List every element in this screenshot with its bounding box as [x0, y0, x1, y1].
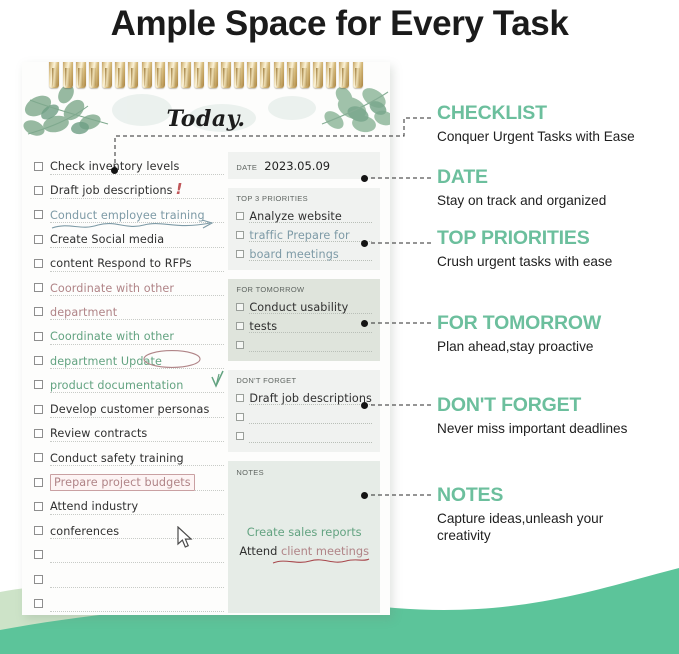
spiral-coil-icon	[287, 62, 297, 88]
task-text: Conduct safety training	[50, 452, 184, 465]
task-line: Attend industry	[50, 498, 224, 515]
task-text: traffic Prepare for	[249, 229, 349, 242]
annotation-date: DATE Stay on track and organized	[437, 166, 606, 209]
checkbox[interactable]	[236, 394, 244, 402]
spiral-coil-icon	[339, 62, 349, 88]
notes-accent-text: client meetings	[281, 544, 369, 558]
priority-item[interactable]: traffic Prepare for	[236, 225, 372, 244]
checkbox[interactable]	[236, 341, 244, 349]
for-tomorrow-title: FOR TOMORROW	[236, 285, 372, 294]
spiral-coil-icon	[128, 62, 138, 88]
annotation-subtitle: Plan ahead,stay proactive	[437, 338, 601, 355]
checklist-item[interactable]: Draft job descriptions!	[32, 178, 224, 202]
dont-forget-item[interactable]	[236, 426, 372, 445]
task-line: Coordinate with other	[50, 328, 224, 345]
checkbox[interactable]	[34, 526, 43, 535]
checklist-item[interactable]: Conduct employee training	[32, 203, 224, 227]
checkbox[interactable]	[34, 332, 43, 341]
page-root: Ample Space for Every Task	[0, 0, 679, 654]
leader-dot	[361, 492, 368, 499]
task-line: content Respond to RFPs	[50, 255, 224, 272]
task-text: product documentation	[50, 379, 183, 392]
spiral-coil-icon	[260, 62, 270, 88]
checkbox[interactable]	[34, 283, 43, 292]
task-line	[249, 428, 372, 443]
leader-dot	[361, 320, 368, 327]
top-priorities-title: TOP 3 PRIORITIES	[236, 194, 372, 203]
task-text: Coordinate with other	[50, 330, 174, 343]
spiral-coil-icon	[76, 62, 86, 88]
checklist-item[interactable]: product documentation	[32, 373, 224, 397]
wavy-underline-icon	[272, 557, 370, 566]
handwritten-check-icon	[210, 370, 226, 390]
checkbox[interactable]	[34, 550, 43, 559]
leader-dot	[361, 175, 368, 182]
date-panel[interactable]: DATE 2023.05.09	[228, 152, 380, 179]
checkbox[interactable]	[236, 212, 244, 220]
checklist-item[interactable]: Review contracts	[32, 421, 224, 445]
checklist-item[interactable]: Check inventory levels	[32, 154, 224, 178]
task-line: conferences	[50, 522, 224, 539]
task-text: conferences	[50, 525, 119, 538]
checkbox[interactable]	[34, 502, 43, 511]
spiral-coil-icon	[208, 62, 218, 88]
checkbox[interactable]	[34, 210, 43, 219]
task-text: Create Social media	[50, 233, 164, 246]
notepad-body: Check inventory levelsDraft job descript…	[22, 138, 390, 615]
notes-text: Create sales reports	[247, 525, 362, 539]
checklist-item[interactable]: content Respond to RFPs	[32, 251, 224, 275]
checkbox[interactable]	[34, 380, 43, 389]
task-line: product documentation	[50, 376, 224, 393]
annotation-checklist: CHECKLIST Conquer Urgent Tasks with Ease	[437, 102, 635, 145]
exclamation-mark-icon: !	[176, 180, 183, 198]
task-text: Conduct usability	[249, 301, 348, 314]
checklist-item[interactable]: Prepare project budgets	[32, 470, 224, 494]
spiral-coil-icon	[63, 62, 73, 88]
task-line: Conduct safety training	[50, 449, 224, 466]
spiral-coil-icon	[168, 62, 178, 88]
tomorrow-item[interactable]: tests	[236, 316, 372, 335]
spiral-coil-icon	[247, 62, 257, 88]
dont-forget-title: DON'T FORGET	[236, 376, 372, 385]
task-line: Draft job descriptions!	[50, 182, 224, 199]
leader-dot	[361, 240, 368, 247]
annotation-title: DATE	[437, 166, 606, 189]
task-line: department Update	[50, 352, 224, 369]
checkbox[interactable]	[34, 162, 43, 171]
task-text: board meetings	[249, 248, 338, 261]
priority-item[interactable]: Analyze website	[236, 206, 372, 225]
circle-annotation-icon	[142, 349, 202, 369]
task-text: Coordinate with other	[50, 282, 174, 295]
task-text: Attend industry	[50, 500, 138, 513]
leader-dot	[111, 167, 118, 174]
spiral-coil-icon	[353, 62, 363, 88]
task-line: Review contracts	[50, 425, 224, 442]
spiral-coil-icon	[181, 62, 191, 88]
task-line: Prepare project budgets	[50, 474, 224, 491]
date-label: DATE	[236, 163, 257, 172]
checklist-item[interactable]: department Update	[32, 348, 224, 372]
checkbox[interactable]	[34, 356, 43, 365]
task-line: department	[50, 303, 224, 320]
checklist-item[interactable]: conferences	[32, 518, 224, 542]
task-line: Analyze website	[249, 208, 372, 223]
annotation-title: CHECKLIST	[437, 102, 635, 125]
checkbox[interactable]	[34, 235, 43, 244]
notepad: Today. Check inventory levelsDraft job d…	[22, 62, 390, 615]
task-text: department	[50, 306, 117, 319]
checkbox[interactable]	[236, 413, 244, 421]
leader-dot	[361, 402, 368, 409]
checklist-item[interactable]: Develop customer personas	[32, 397, 224, 421]
task-text: tests	[249, 320, 277, 333]
checkbox[interactable]	[34, 575, 43, 584]
task-line	[50, 595, 224, 612]
spiral-coil-icon	[142, 62, 152, 88]
task-line	[50, 546, 224, 563]
annotation-subtitle: Capture ideas,unleash your creativity	[437, 510, 652, 544]
spiral-coil-icon	[326, 62, 336, 88]
dont-forget-item[interactable]	[236, 407, 372, 426]
checklist-item[interactable]: Attend industry	[32, 494, 224, 518]
spiral-coil-icon	[115, 62, 125, 88]
spiral-coil-icon	[89, 62, 99, 88]
checkbox[interactable]	[34, 429, 43, 438]
notes-title: NOTES	[236, 468, 372, 477]
notes-line: Create sales reports	[236, 523, 372, 542]
task-line: Check inventory levels	[50, 158, 224, 175]
checkbox[interactable]	[34, 599, 43, 608]
annotation-subtitle: Never miss important deadlines	[437, 420, 627, 437]
spiral-coil-icon	[49, 62, 59, 88]
spiral-coil-icon	[313, 62, 323, 88]
task-line: Create Social media	[50, 231, 224, 248]
annotation-dont-forget: DON'T FORGET Never miss important deadli…	[437, 394, 627, 437]
task-text: Review contracts	[50, 427, 147, 440]
spiral-coil-icon	[194, 62, 204, 88]
top-priorities-panel: TOP 3 PRIORITIES Analyze websitetraffic …	[228, 188, 380, 270]
date-value: 2023.05.09	[264, 159, 330, 173]
annotation-title: FOR TOMORROW	[437, 312, 601, 335]
task-line	[50, 571, 224, 588]
notes-panel[interactable]: NOTES Create sales reportsAttend client …	[228, 461, 380, 613]
annotation-notes: NOTES Capture ideas,unleash your creativ…	[437, 484, 652, 544]
today-heading: Today.	[22, 106, 390, 132]
checkbox[interactable]	[34, 259, 43, 268]
task-line: Coordinate with other	[50, 279, 224, 296]
annotation-top-priorities: TOP PRIORITIES Crush urgent tasks with e…	[437, 227, 612, 270]
page-title: Ample Space for Every Task	[0, 0, 679, 46]
tomorrow-item[interactable]: Conduct usability	[236, 297, 372, 316]
tomorrow-item[interactable]	[236, 335, 372, 354]
task-line: traffic Prepare for	[249, 227, 372, 242]
checkbox[interactable]	[236, 250, 244, 258]
task-line: board meetings	[249, 246, 372, 261]
panels-column: DATE 2023.05.09 TOP 3 PRIORITIES Analyze…	[228, 150, 380, 615]
task-line	[249, 409, 372, 424]
annotation-subtitle: Conquer Urgent Tasks with Ease	[437, 128, 635, 145]
checklist-item[interactable]: Create Social media	[32, 227, 224, 251]
priority-item[interactable]: board meetings	[236, 244, 372, 263]
annotation-title: TOP PRIORITIES	[437, 227, 612, 250]
spiral-coil-icon	[300, 62, 310, 88]
task-line: Develop customer personas	[50, 401, 224, 418]
task-text: Draft job descriptions	[50, 184, 173, 197]
checkbox[interactable]	[236, 303, 244, 311]
task-line: Draft job descriptions	[249, 390, 372, 405]
checklist-item[interactable]: Coordinate with other	[32, 275, 224, 299]
spiral-binding	[22, 62, 390, 90]
task-line	[249, 337, 372, 352]
task-line: tests	[249, 318, 372, 333]
checkbox[interactable]	[236, 322, 244, 330]
annotation-subtitle: Stay on track and organized	[437, 192, 606, 209]
spiral-coil-icon	[102, 62, 112, 88]
task-text: Prepare project budgets	[50, 474, 195, 491]
notes-text: Attend	[239, 544, 281, 558]
checklist-column: Check inventory levelsDraft job descript…	[32, 150, 224, 615]
task-text: Analyze website	[249, 210, 341, 223]
checklist-item[interactable]: Coordinate with other	[32, 324, 224, 348]
spiral-coil-icon	[234, 62, 244, 88]
notepad-header: Today.	[22, 62, 390, 138]
checklist-item[interactable]	[32, 591, 224, 615]
checkbox[interactable]	[34, 478, 43, 487]
spiral-coil-icon	[274, 62, 284, 88]
spiral-coil-icon	[221, 62, 231, 88]
spiral-coil-icon	[155, 62, 165, 88]
checkbox[interactable]	[34, 186, 43, 195]
dont-forget-item[interactable]: Draft job descriptions	[236, 388, 372, 407]
task-text: content Respond to RFPs	[50, 257, 192, 270]
for-tomorrow-panel: FOR TOMORROW Conduct usabilitytests	[228, 279, 380, 361]
notes-line: Attend client meetings	[236, 542, 372, 561]
checkbox[interactable]	[236, 231, 244, 239]
dont-forget-panel: DON'T FORGET Draft job descriptions	[228, 370, 380, 452]
checklist-item[interactable]: department	[32, 300, 224, 324]
checkbox[interactable]	[34, 307, 43, 316]
mouse-cursor-icon	[177, 526, 194, 549]
task-text: Draft job descriptions	[249, 392, 372, 405]
annotation-title: NOTES	[437, 484, 652, 507]
annotation-title: DON'T FORGET	[437, 394, 627, 417]
checkbox[interactable]	[34, 453, 43, 462]
task-text: Develop customer personas	[50, 403, 209, 416]
task-line: Conduct employee training	[50, 206, 224, 223]
checkbox[interactable]	[236, 432, 244, 440]
checklist-item[interactable]	[32, 567, 224, 591]
checkbox[interactable]	[34, 405, 43, 414]
checklist-item[interactable]	[32, 543, 224, 567]
annotation-for-tomorrow: FOR TOMORROW Plan ahead,stay proactive	[437, 312, 601, 355]
task-line: Conduct usability	[249, 299, 372, 314]
annotation-subtitle: Crush urgent tasks with ease	[437, 253, 612, 270]
checklist-item[interactable]: Conduct safety training	[32, 446, 224, 470]
